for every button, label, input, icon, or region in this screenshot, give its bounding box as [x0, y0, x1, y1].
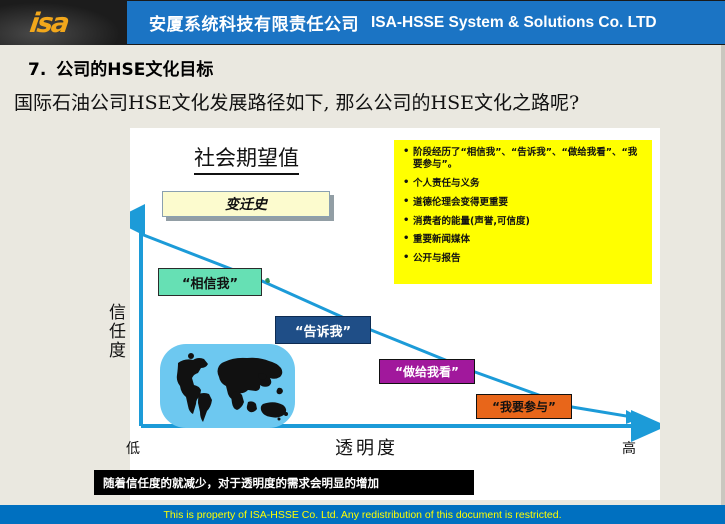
- page-title: 7.公司的HSE文化目标: [28, 55, 213, 80]
- logo-panel: isa: [0, 0, 127, 45]
- step-box-tell-me[interactable]: “告诉我”: [275, 316, 371, 344]
- diagram-panel: 社会期望值 变迁史 阶段经历了“相信我”、“告诉我”、“做给我看”、“我要参与”…: [130, 128, 660, 500]
- globe-icon: [160, 344, 295, 428]
- footer-text: This is property of ISA-HSSE Co. Ltd. An…: [163, 509, 561, 521]
- slide-header: isa 安厦系统科技有限责任公司 ISA-HSSE System & Solut…: [0, 0, 725, 45]
- slide-footer: This is property of ISA-HSSE Co. Ltd. An…: [0, 505, 725, 524]
- x-axis-tick-low: 低: [126, 438, 140, 458]
- page-subtitle: 国际石油公司HSE文化发展路径如下, 那么公司的HSE文化之路呢?: [14, 88, 579, 115]
- page-title-number: 7.: [28, 60, 46, 80]
- slide-right-edge: [721, 45, 725, 505]
- step-box-involve-me[interactable]: “我要参与”: [476, 394, 572, 419]
- step-box-show-me[interactable]: “做给我看”: [379, 359, 475, 384]
- isa-logo: isa: [28, 8, 70, 39]
- world-map-graphic: [160, 344, 295, 428]
- step-box-trust-me[interactable]: “相信我”: [158, 268, 262, 296]
- x-axis-tick-high: 高: [622, 438, 636, 458]
- slide: isa 安厦系统科技有限责任公司 ISA-HSSE System & Solut…: [0, 0, 725, 524]
- header-title-band: 安厦系统科技有限责任公司 ISA-HSSE System & Solutions…: [127, 1, 725, 44]
- page-title-text: 公司的HSE文化目标: [56, 60, 213, 80]
- company-name-en: ISA-HSSE System & Solutions Co. LTD: [371, 14, 657, 32]
- company-name-cn: 安厦系统科技有限责任公司: [149, 10, 359, 35]
- x-axis-label: 透明度: [335, 434, 398, 460]
- caption-text: 随着信任度的就减少，对于透明度的需求会明显的增加: [103, 475, 379, 491]
- trend-arrow-icon: [626, 410, 641, 424]
- y-axis-label: 信任度: [103, 303, 128, 360]
- caption-banner: 随着信任度的就减少，对于透明度的需求会明显的增加: [94, 470, 474, 495]
